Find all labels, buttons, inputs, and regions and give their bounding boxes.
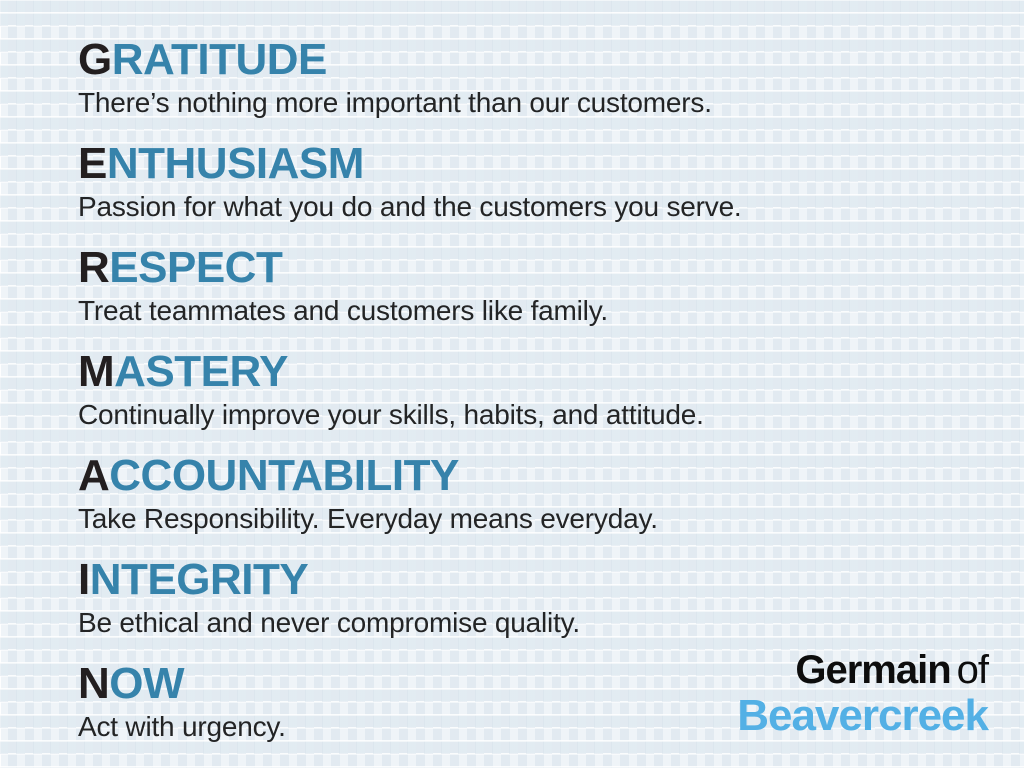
brand-name: Germain	[795, 648, 950, 692]
value-item-gratitude: GRATITUDE There’s nothing more important…	[78, 36, 978, 120]
value-description-gratitude: There’s nothing more important than our …	[78, 86, 978, 120]
value-heading-remainder: NTEGRITY	[90, 555, 308, 604]
value-description-accountability: Take Responsibility. Everyday means ever…	[78, 502, 978, 536]
value-item-integrity: INTEGRITY Be ethical and never compromis…	[78, 556, 978, 640]
value-lead-letter: E	[78, 139, 107, 188]
value-heading-respect: RESPECT	[78, 244, 978, 292]
value-description-respect: Treat teammates and customers like famil…	[78, 294, 978, 328]
value-description-integrity: Be ethical and never compromise quality.	[78, 606, 978, 640]
value-heading-gratitude: GRATITUDE	[78, 36, 978, 84]
value-lead-letter: N	[78, 659, 109, 708]
value-heading-remainder: ESPECT	[109, 243, 282, 292]
value-lead-letter: R	[78, 243, 109, 292]
value-description-enthusiasm: Passion for what you do and the customer…	[78, 190, 978, 224]
value-item-respect: RESPECT Treat teammates and customers li…	[78, 244, 978, 328]
poster-canvas: GRATITUDE There’s nothing more important…	[0, 0, 1024, 768]
value-heading-remainder: OW	[109, 659, 184, 708]
value-heading-mastery: MASTERY	[78, 348, 978, 396]
value-item-accountability: ACCOUNTABILITY Take Responsibility. Ever…	[78, 452, 978, 536]
value-heading-enthusiasm: ENTHUSIASM	[78, 140, 978, 188]
core-values-list: GRATITUDE There’s nothing more important…	[78, 36, 978, 744]
brand-logo-line-one: Germainof	[737, 648, 988, 692]
brand-connector: of	[957, 648, 988, 692]
brand-location: Beavercreek	[737, 692, 988, 740]
value-description-mastery: Continually improve your skills, habits,…	[78, 398, 978, 432]
value-lead-letter: A	[78, 451, 109, 500]
value-item-enthusiasm: ENTHUSIASM Passion for what you do and t…	[78, 140, 978, 224]
value-heading-remainder: NTHUSIASM	[107, 139, 364, 188]
value-heading-integrity: INTEGRITY	[78, 556, 978, 604]
value-lead-letter: M	[78, 347, 114, 396]
value-heading-remainder: RATITUDE	[112, 35, 327, 84]
value-lead-letter: I	[78, 555, 90, 604]
value-lead-letter: G	[78, 35, 112, 84]
brand-logo: Germainof Beavercreek	[737, 648, 988, 740]
value-heading-remainder: ASTERY	[114, 347, 288, 396]
value-heading-remainder: CCOUNTABILITY	[109, 451, 459, 500]
value-heading-accountability: ACCOUNTABILITY	[78, 452, 978, 500]
value-item-mastery: MASTERY Continually improve your skills,…	[78, 348, 978, 432]
